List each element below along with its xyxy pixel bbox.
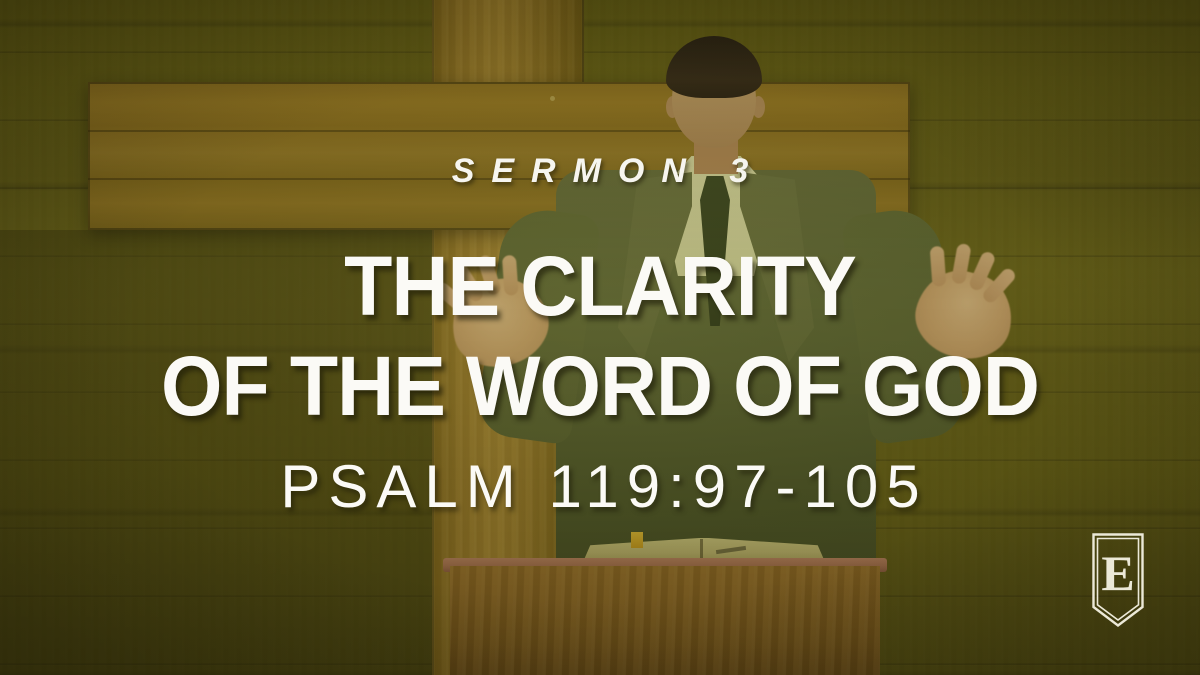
vignette-overlay xyxy=(0,0,1200,675)
shield-letter-E: E xyxy=(1101,545,1134,601)
sermon-title-slide: SERMON 3 THE CLARITY OF THE WORD OF GOD … xyxy=(0,0,1200,675)
crest-shield-logo-icon: E xyxy=(1092,533,1144,627)
